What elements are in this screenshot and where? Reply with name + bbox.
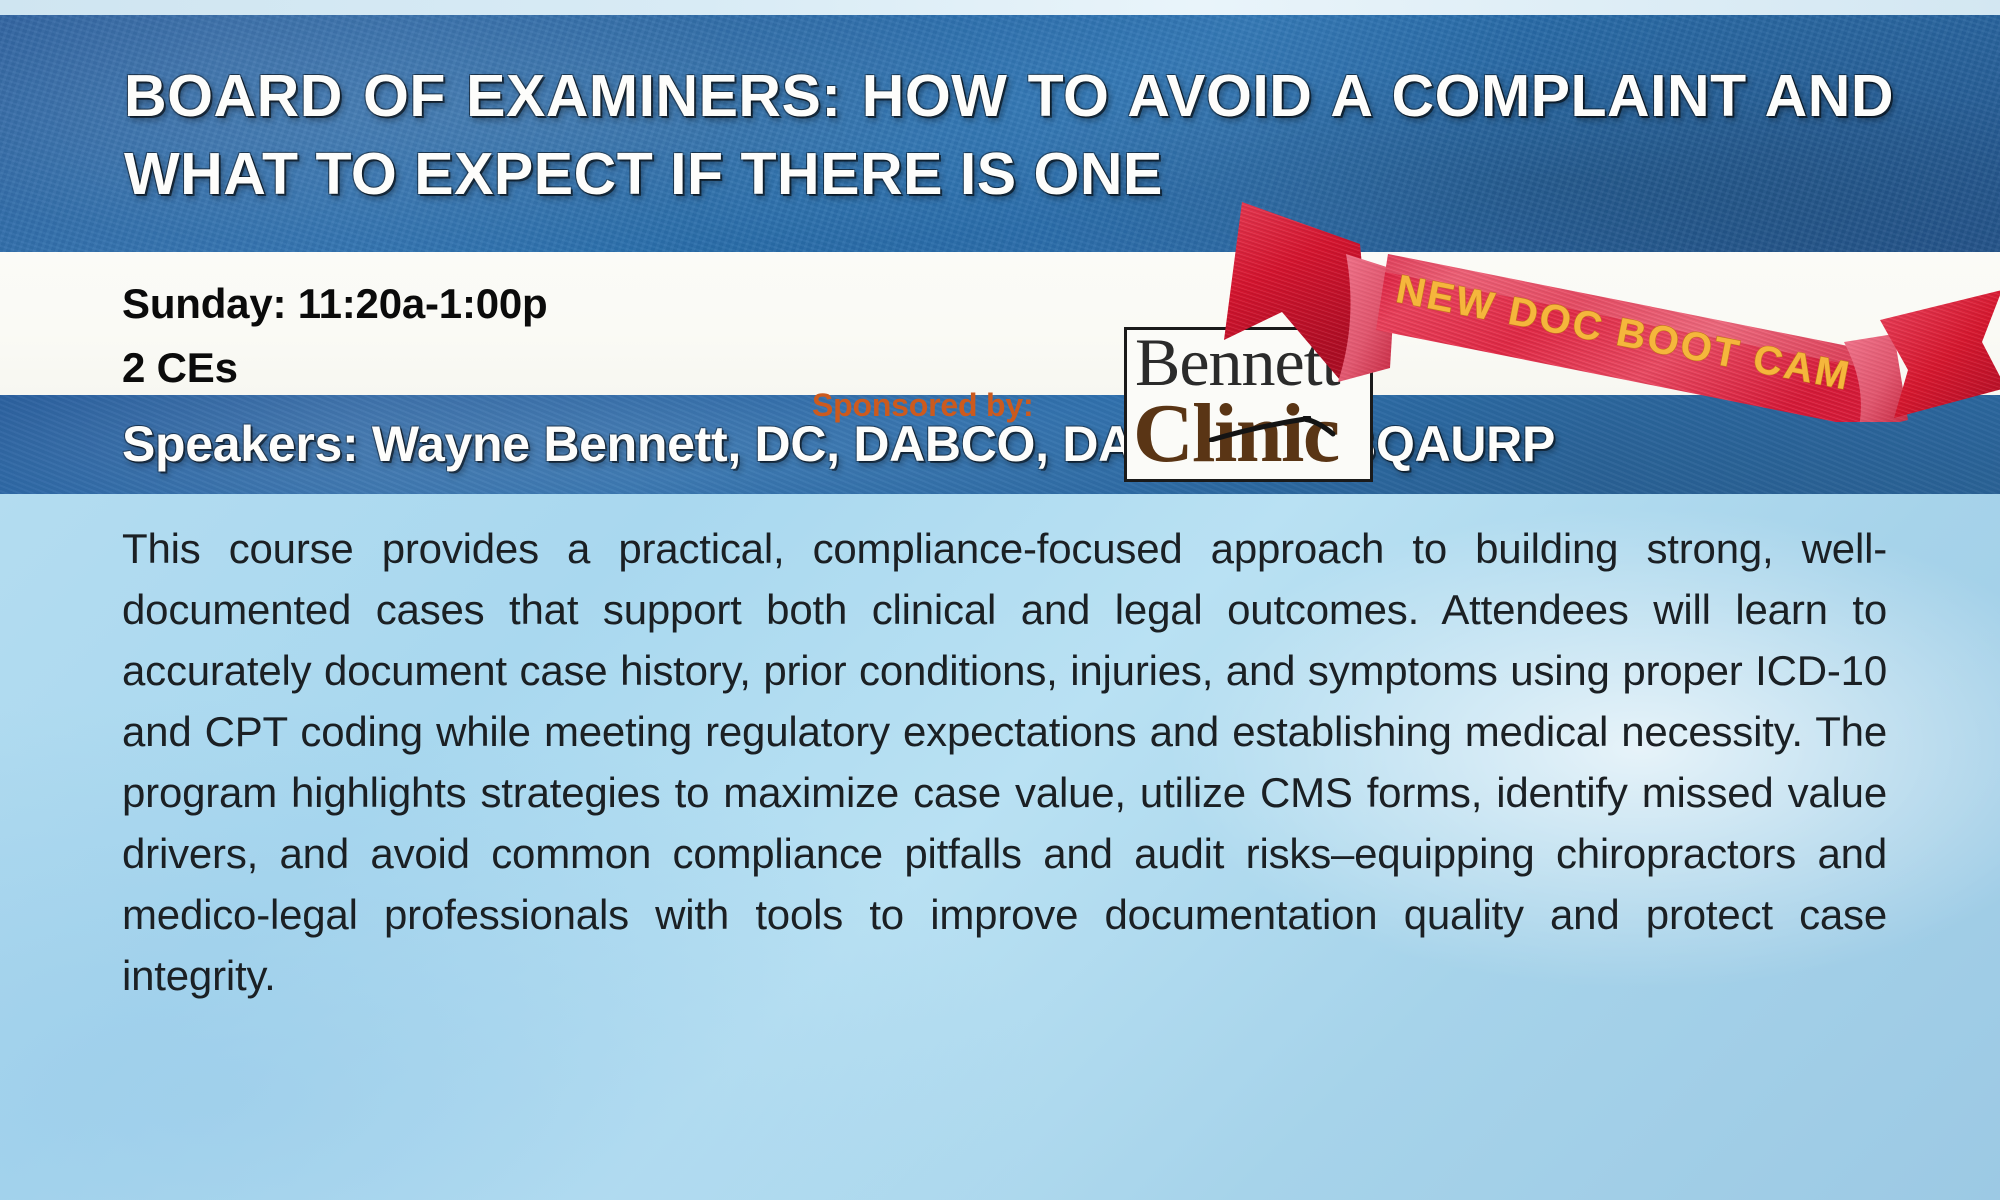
sponsored-by-label: Sponsored by: — [812, 386, 1033, 424]
sponsor-logo: Bennett Clinic — [1124, 327, 1373, 482]
title-banner: Board of Examiners: How to Avoid a Compl… — [0, 15, 2000, 252]
session-schedule-block: Sunday: 11:20a-1:00p 2 CEs — [122, 276, 548, 396]
top-accent-strip — [0, 0, 2000, 15]
page-title: Board of Examiners: How to Avoid a Compl… — [124, 57, 1894, 213]
session-time: Sunday: 11:20a-1:00p — [122, 276, 548, 332]
sponsor-block: Sponsored by: — [812, 386, 1033, 424]
session-credits: 2 CEs — [122, 340, 548, 396]
description-section: This course provides a practical, compli… — [0, 494, 2000, 1200]
description-body: This course provides a practical, compli… — [122, 518, 1887, 1006]
roof-swoosh-icon — [1209, 416, 1339, 442]
